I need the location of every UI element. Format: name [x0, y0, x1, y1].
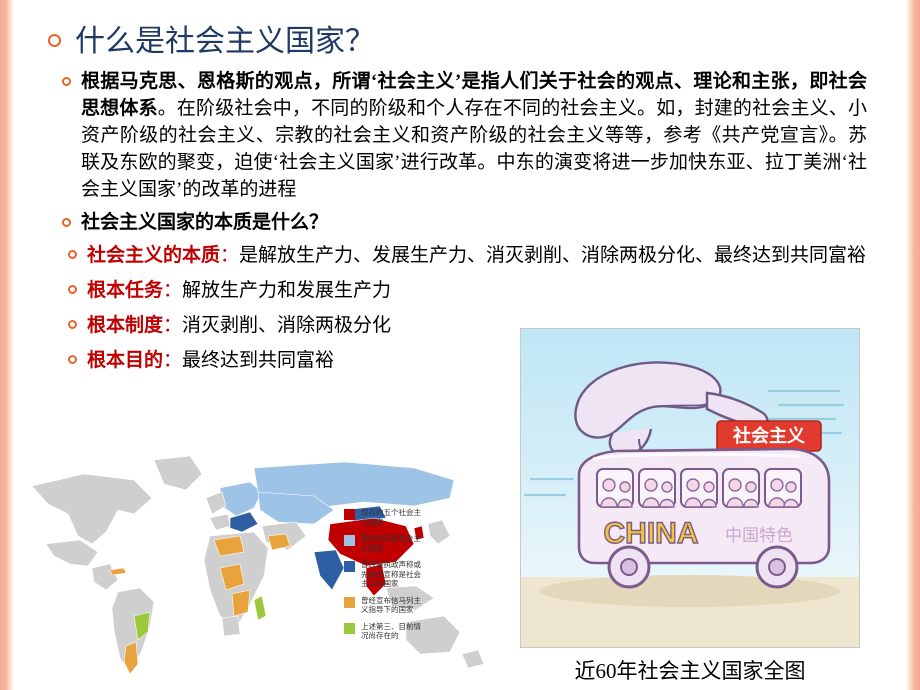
legend-swatch: [344, 509, 355, 520]
definition-system-text: 消灭剥削、消除两极分化: [182, 315, 391, 336]
legend-item: 曾经是执政声称或先前曾宣称是社会主义的国家: [344, 560, 509, 589]
definition-system: 根本制度：消灭剥削、消除两极分化: [87, 312, 391, 339]
bus-subtext: 中国特色: [725, 526, 793, 545]
legend-label: 曾经是执政声称或先前曾宣称是社会主义的国家: [361, 560, 421, 589]
legend-swatch: [344, 535, 355, 546]
world-map-image: 现存的五个社会主义国家 曾经的苏联社会主义国家 曾经是执政声称或先前曾宣称是社会…: [14, 440, 514, 690]
legend-label: 曾经的苏联社会主义国家: [361, 534, 421, 553]
bullet-icon: [68, 320, 77, 329]
legend-swatch: [344, 597, 355, 608]
definition-goal: 根本目的：最终达到共同富裕: [87, 347, 334, 374]
legend-swatch: [344, 561, 355, 572]
definition-task-label: 根本任务: [87, 280, 163, 301]
page-title: 什么是社会主义国家？: [75, 16, 375, 60]
bullet-icon: [68, 355, 77, 364]
slide: 什么是社会主义国家？ 根据马克思、恩格斯的观点，所谓‘社会主义’是指人们关于社会…: [0, 0, 920, 690]
paragraph-1-rest: 。在阶级社会中，不同的阶级和个人存在不同的社会主义。如，封建的社会主义、小资产阶…: [81, 98, 867, 200]
right-decorative-bar: [906, 0, 920, 690]
definition-essence-label: 社会主义的本质: [87, 245, 220, 266]
definition-system-colon: ：: [163, 315, 182, 336]
bus-cartoon-image: 社会主义: [520, 328, 860, 648]
definition-essence-text: 是解放生产力、发展生产力、消灭剥削、消除两极分化、最终达到共同富裕: [239, 245, 866, 266]
bullet-icon: [68, 285, 77, 294]
list-item: 社会主义国家的本质是什么？: [62, 209, 867, 236]
legend-label: 曾经宣布信马列主义指导下的国家: [361, 596, 421, 615]
definition-goal-colon: ：: [163, 350, 182, 371]
title-row: 什么是社会主义国家？: [48, 16, 375, 60]
legend-label: 上述第三、目前情况尚存在的: [361, 622, 421, 641]
paragraph-1: 根据马克思、恩格斯的观点，所谓‘社会主义’是指人们关于社会的观点、理论和主张，即…: [81, 68, 867, 203]
list-item: 根据马克思、恩格斯的观点，所谓‘社会主义’是指人们关于社会的观点、理论和主张，即…: [62, 68, 867, 203]
bullet-icon: [68, 250, 77, 259]
legend-item: 上述第三、目前情况尚存在的: [344, 622, 509, 641]
definition-task: 根本任务：解放生产力和发展生产力: [87, 277, 391, 304]
list-item: 根本任务：解放生产力和发展生产力: [68, 277, 867, 304]
image-caption: 近60年社会主义国家全图: [520, 655, 860, 685]
bullet-icon: [62, 218, 71, 227]
bus-cartoon-svg: 社会主义: [521, 329, 859, 647]
definition-essence: 社会主义的本质：是解放生产力、发展生产力、消灭剥削、消除两极分化、最终达到共同富…: [87, 242, 866, 269]
legend-item: 曾经的苏联社会主义国家: [344, 534, 509, 553]
legend-swatch: [344, 623, 355, 634]
map-legend: 现存的五个社会主义国家 曾经的苏联社会主义国家 曾经是执政声称或先前曾宣称是社会…: [344, 508, 509, 648]
title-bullet-icon: [48, 34, 61, 47]
definition-essence-colon: ：: [220, 245, 239, 266]
definition-goal-label: 根本目的: [87, 350, 163, 371]
bullet-icon: [62, 77, 71, 86]
list-item: 社会主义的本质：是解放生产力、发展生产力、消灭剥削、消除两极分化、最终达到共同富…: [68, 242, 867, 269]
sub-question: 社会主义国家的本质是什么？: [81, 209, 328, 236]
definition-task-text: 解放生产力和发展生产力: [182, 280, 391, 301]
bus-text: CHINA: [604, 517, 699, 550]
definition-system-label: 根本制度: [87, 315, 163, 336]
legend-label: 现存的五个社会主义国家: [361, 508, 421, 527]
legend-item: 现存的五个社会主义国家: [344, 508, 509, 527]
definition-task-colon: ：: [163, 280, 182, 301]
legend-item: 曾经宣布信马列主义指导下的国家: [344, 596, 509, 615]
left-decorative-bar: [0, 0, 14, 690]
sign-text: 社会主义: [733, 425, 805, 446]
definition-goal-text: 最终达到共同富裕: [182, 350, 334, 371]
